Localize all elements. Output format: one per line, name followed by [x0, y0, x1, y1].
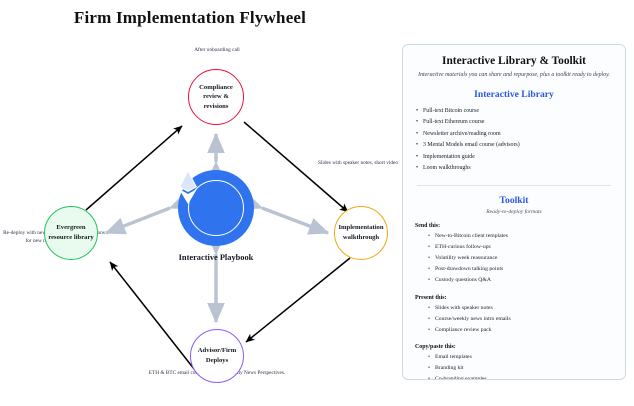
list-item: Course/weekly news intro emails: [428, 314, 613, 325]
node-implementation-walkthrough[interactable]: Implementation walkthrough: [334, 206, 388, 260]
edge-walkthrough-to-deploys: [246, 258, 350, 342]
ethereum-diamond-icon: [178, 170, 198, 204]
node-evergreen-resource-library[interactable]: Evergreen resource library: [44, 206, 98, 260]
list-item: Post-drawdown talking points: [428, 264, 613, 275]
list-item: 3 Mental Models email course (advisors): [415, 140, 613, 152]
list-item: Email templates: [428, 352, 613, 363]
node-advisor-firm-deploys[interactable]: Advisor/Firm Deploys: [190, 329, 244, 383]
node-compliance-label: Compliance review & revisions: [189, 83, 243, 112]
list-item: Full-text Bitcoin course: [415, 106, 613, 118]
toolkit-heading: Toolkit: [415, 195, 613, 206]
library-heading: Interactive Library: [415, 89, 613, 100]
library-list: Full-text Bitcoin course Full-text Ether…: [415, 106, 613, 175]
node-compliance[interactable]: Compliance review & revisions: [188, 69, 244, 125]
send-this-list: New-to-Bitcoin client templates ETH-curi…: [415, 231, 613, 287]
node-library-label: Evergreen resource library: [45, 223, 97, 242]
list-item: Compliance review pack: [428, 325, 613, 336]
page-title: Firm Implementation Flywheel: [0, 8, 380, 28]
edge-deploys-to-library: [110, 262, 198, 374]
node-walkthrough-label: Implementation walkthrough: [335, 223, 387, 242]
list-item: ETH-curious follow-ups: [428, 242, 613, 253]
node-deploys-label: Advisor/Firm Deploys: [191, 346, 243, 365]
list-item: Custody questions Q&A: [428, 275, 613, 286]
panel-subtitle: Interactive materials you can share and …: [415, 71, 613, 80]
spoke-center-library: [106, 208, 170, 233]
list-item: Branding kit: [428, 363, 613, 374]
list-item: Full-text Ethereum course: [415, 117, 613, 129]
list-item: Newsletter archive/reading room: [415, 129, 613, 141]
list-item: Volatility week reassurance: [428, 253, 613, 264]
panel-title: Interactive Library & Toolkit: [415, 55, 613, 67]
caption-walkthrough: Slides with speaker notes, short video: [312, 160, 404, 168]
toolkit-subtitle: Ready-to-deploy formats: [415, 209, 613, 215]
list-item: Loom walkthroughs: [415, 163, 613, 175]
center-ring: [188, 180, 244, 236]
caption-compliance: After onboarding call: [158, 47, 276, 55]
list-item: Co-branding examples: [428, 374, 613, 380]
edge-library-to-compliance: [86, 126, 182, 210]
group-label-send: Send this:: [415, 223, 613, 229]
center-node-label: Interactive Playbook: [154, 252, 278, 263]
list-item: New-to-Bitcoin client templates: [428, 231, 613, 242]
node-interactive-playbook[interactable]: [178, 170, 254, 246]
interactive-library-toolkit-panel: Interactive Library & Toolkit Interactiv…: [402, 44, 626, 380]
group-label-copy-paste: Copy/paste this:: [415, 344, 613, 350]
list-item: Implementation guide: [415, 152, 613, 164]
list-item: Slides with speaker notes: [428, 303, 613, 314]
spoke-center-walkthrough: [262, 208, 328, 233]
copy-paste-this-list: Email templates Branding kit Co-branding…: [415, 352, 613, 380]
present-this-list: Slides with speaker notes Course/weekly …: [415, 303, 613, 336]
group-label-present: Present this:: [415, 295, 613, 301]
flywheel-diagram: After onboarding call Re-deploy with new…: [0, 34, 392, 406]
section-divider: [417, 185, 611, 186]
